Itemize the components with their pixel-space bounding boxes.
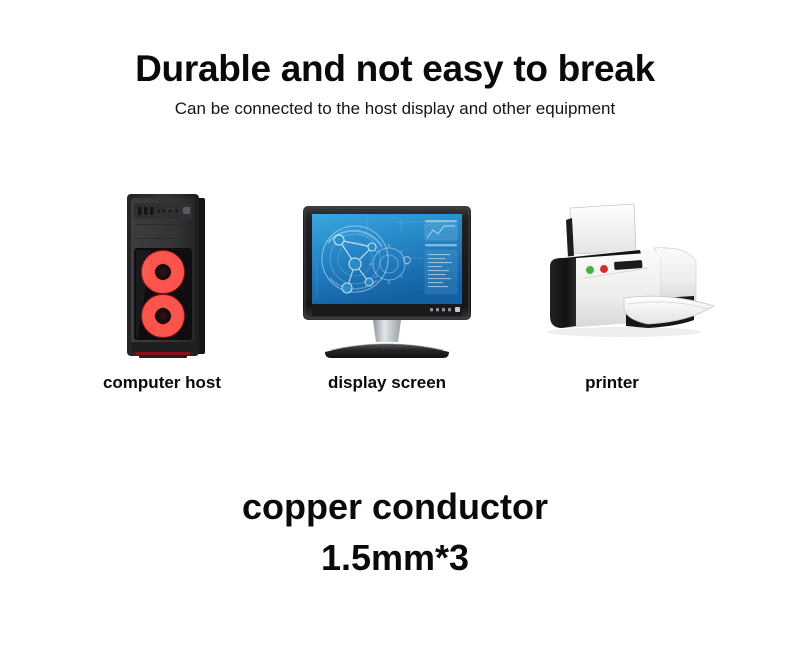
product-image-printer bbox=[528, 196, 723, 338]
lcd-monitor-icon bbox=[297, 202, 477, 360]
caption-printer: printer bbox=[512, 373, 712, 393]
promo-banner: Durable and not easy to break Can be con… bbox=[0, 0, 790, 650]
product-image-display-screen bbox=[297, 202, 477, 360]
desktop-tower-icon bbox=[105, 186, 225, 366]
caption-computer-host: computer host bbox=[62, 373, 262, 393]
footer-conductor-spec: 1.5mm*3 bbox=[0, 537, 790, 579]
footer-conductor-label: copper conductor bbox=[0, 486, 790, 528]
page-title: Durable and not easy to break bbox=[0, 48, 790, 90]
inkjet-printer-icon bbox=[528, 196, 723, 338]
page-subtitle: Can be connected to the host display and… bbox=[0, 99, 790, 119]
caption-display-screen: display screen bbox=[287, 373, 487, 393]
product-image-computer-host bbox=[105, 186, 225, 366]
